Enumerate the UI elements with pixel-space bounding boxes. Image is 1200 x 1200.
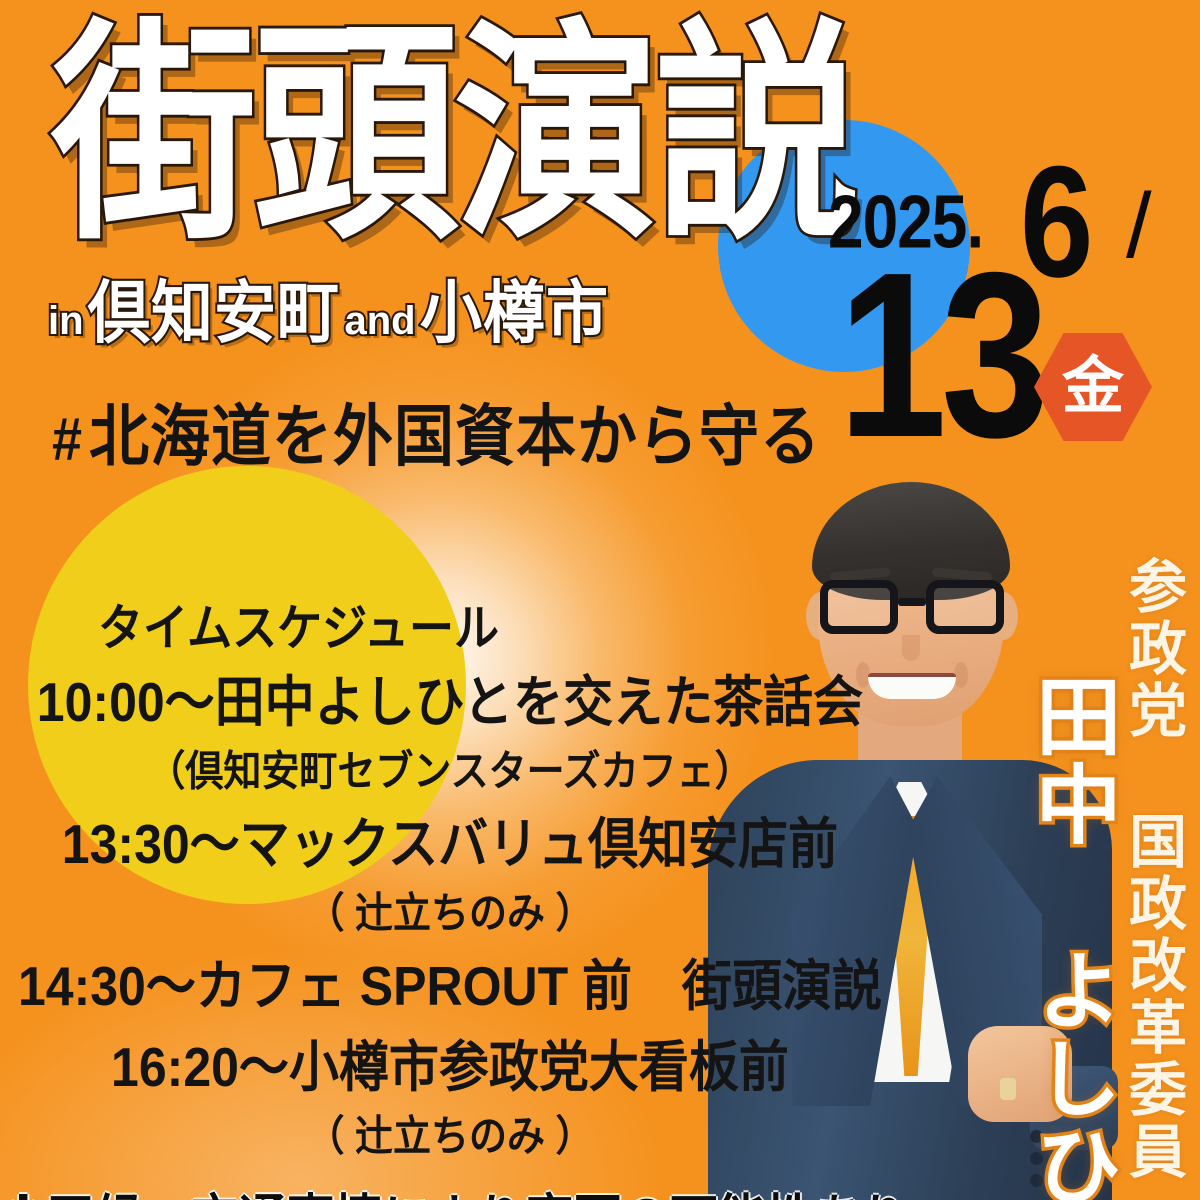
schedule-entry-1-main: 10:00〜田中よしひとを交えた茶話会 xyxy=(0,658,900,737)
schedule-block: タイムスケジュール 10:00〜田中よしひとを交えた茶話会 （倶知安町セブンスタ… xyxy=(0,588,900,1200)
schedule-title: タイムスケジュール xyxy=(98,588,900,660)
schedule-entry-4-main: 16:20〜小樽市参政党大看板前 xyxy=(0,1023,900,1102)
schedule-entry-1-venue: （倶知安町セブンスターズカフェ） xyxy=(0,737,900,798)
schedule-entry-2-main: 13:30〜マックスバリュ倶知安店前 xyxy=(0,800,900,879)
date-separator: / xyxy=(1126,180,1152,272)
location-place-1: 倶知安町 xyxy=(88,258,340,357)
photo-nose xyxy=(902,635,920,661)
page-title: 街頭演説 xyxy=(52,22,856,251)
glasses-lens-right xyxy=(926,580,1004,634)
photo-ring xyxy=(1000,1078,1016,1100)
location-prefix-in: in xyxy=(48,299,84,343)
campaign-poster: 街頭演説 in 倶知安町 and 小樽市 #北海道を外国資本から守る 2025.… xyxy=(0,0,1200,1200)
photo-smile-line-right xyxy=(954,662,968,688)
glasses-bridge xyxy=(898,598,926,606)
schedule-entry-2-venue: （ 辻立ちのみ ） xyxy=(0,879,900,940)
schedule-entry-3-main: 14:30〜カフェ SPROUT 前 街頭演説 xyxy=(0,942,900,1021)
candidate-name: 田中 よしひと xyxy=(1025,672,1114,1200)
candidate-role: 参政党 国政改革委員 xyxy=(1122,556,1182,1183)
schedule-entry-4-venue: （ 辻立ちのみ ） xyxy=(0,1102,900,1163)
location-line: in 倶知安町 and 小樽市 xyxy=(48,262,609,352)
schedule-disclaimer: ※天候、交通事情により変更の可能性あり xyxy=(0,1176,900,1200)
location-conjunction-and: and xyxy=(344,299,415,343)
day-of-week-label: 金 xyxy=(1062,356,1124,418)
hash-symbol-icon: # xyxy=(52,406,83,473)
location-place-2: 小樽市 xyxy=(420,258,609,357)
